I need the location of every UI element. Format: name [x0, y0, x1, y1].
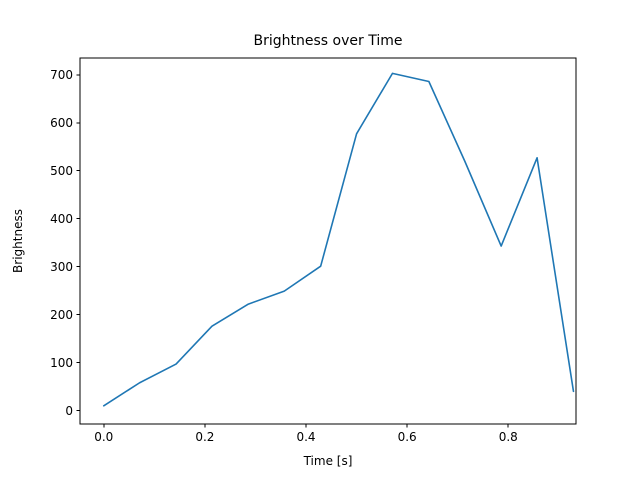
y-tick-label: 0	[65, 404, 73, 418]
x-axis-label: Time [s]	[303, 454, 353, 468]
x-tick-label: 0.2	[195, 430, 214, 444]
x-tick-label: 0.4	[296, 430, 315, 444]
x-tick-label: 0.0	[94, 430, 113, 444]
chart-canvas: 0100200300400500600700 0.00.20.40.60.8 B…	[0, 0, 640, 480]
y-tick-label: 700	[50, 68, 73, 82]
y-tick-label: 500	[50, 164, 73, 178]
y-tick-label: 100	[50, 356, 73, 370]
x-tick-label: 0.8	[499, 430, 518, 444]
y-tick-label: 300	[50, 260, 73, 274]
matplotlib-figure: 0100200300400500600700 0.00.20.40.60.8 B…	[0, 0, 640, 480]
y-tick-label: 200	[50, 308, 73, 322]
y-tick-label: 600	[50, 116, 73, 130]
x-tick-label: 0.6	[398, 430, 417, 444]
y-tick-label: 400	[50, 212, 73, 226]
y-axis-label: Brightness	[11, 209, 25, 273]
chart-title: Brightness over Time	[254, 33, 403, 49]
